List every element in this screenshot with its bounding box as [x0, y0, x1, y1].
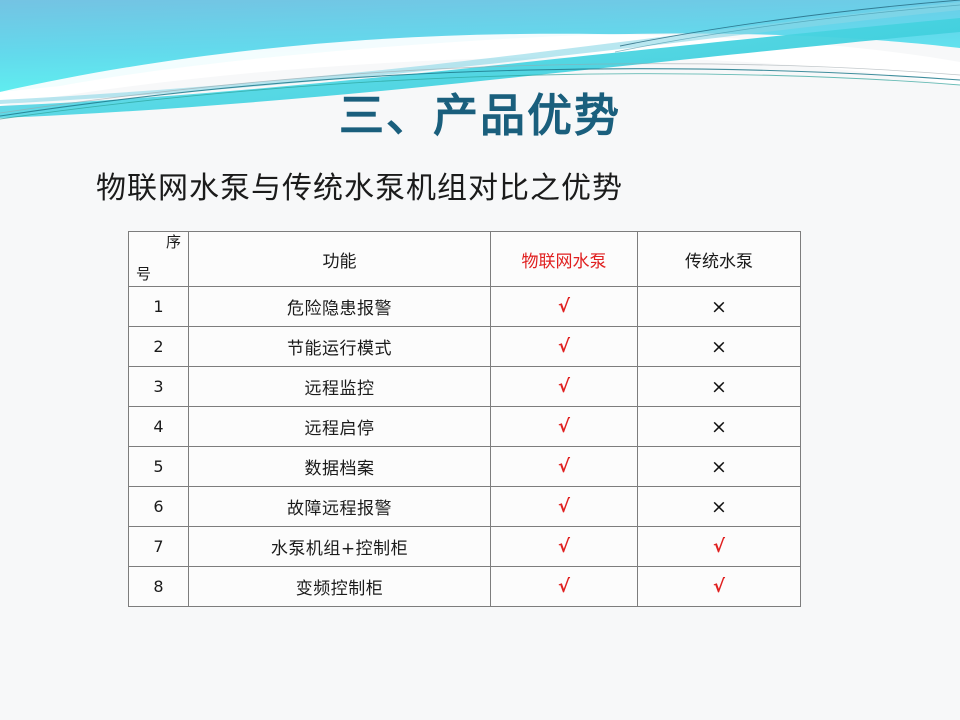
row-iot-pump-mark: √ — [491, 407, 637, 446]
row-iot-pump-mark: √ — [491, 527, 637, 566]
row-index-cell: 4 — [129, 407, 189, 447]
row-iot-pump-mark: √ — [491, 487, 637, 526]
slide-title: 三、产品优势 — [0, 92, 960, 139]
header-cell-traditional-pump: 传统水泵 — [638, 232, 801, 287]
row-function-cell: 故障远程报警 — [189, 487, 491, 527]
row-traditional-pump-mark-cell: × — [638, 407, 801, 447]
table-row: 4远程启停√× — [129, 407, 801, 447]
row-iot-pump-mark-cell: √ — [491, 407, 638, 447]
row-traditional-pump-mark: × — [638, 367, 800, 406]
row-traditional-pump-mark: × — [638, 407, 800, 446]
row-iot-pump-mark-cell: √ — [491, 487, 638, 527]
table-row: 3远程监控√× — [129, 367, 801, 407]
row-function-cell: 远程启停 — [189, 407, 491, 447]
row-function: 节能运行模式 — [189, 327, 490, 366]
row-function: 远程监控 — [189, 367, 490, 406]
row-index: 8 — [129, 567, 188, 606]
table-header-row: 序 号 功能 物联网水泵 传统水泵 — [129, 232, 801, 287]
row-index: 2 — [129, 327, 188, 366]
comparison-table: 序 号 功能 物联网水泵 传统水泵 1危险隐患报警√×2节能运行模式√×3远程监… — [128, 231, 801, 607]
table-row: 6故障远程报警√× — [129, 487, 801, 527]
row-iot-pump-mark: √ — [491, 447, 637, 486]
row-index-cell: 7 — [129, 527, 189, 567]
row-index-cell: 2 — [129, 327, 189, 367]
row-traditional-pump-mark-cell: × — [638, 327, 801, 367]
row-iot-pump-mark: √ — [491, 367, 637, 406]
row-iot-pump-mark: √ — [491, 327, 637, 366]
row-index: 3 — [129, 367, 188, 406]
row-index-cell: 5 — [129, 447, 189, 487]
table-row: 8变频控制柜√√ — [129, 567, 801, 607]
row-index: 5 — [129, 447, 188, 486]
table-row: 5数据档案√× — [129, 447, 801, 487]
row-index: 6 — [129, 487, 188, 526]
row-iot-pump-mark: √ — [491, 287, 637, 326]
slide-canvas: 三、产品优势 物联网水泵与传统水泵机组对比之优势 序 号 功能 物联网水泵 传统… — [0, 0, 960, 720]
row-function: 危险隐患报警 — [189, 287, 490, 326]
slide-subtitle: 物联网水泵与传统水泵机组对比之优势 — [96, 163, 623, 207]
row-traditional-pump-mark-cell: √ — [638, 567, 801, 607]
header-traditional-pump-label: 传统水泵 — [638, 232, 800, 286]
row-iot-pump-mark: √ — [491, 567, 637, 606]
row-function-cell: 变频控制柜 — [189, 567, 491, 607]
row-traditional-pump-mark: √ — [638, 567, 800, 606]
row-traditional-pump-mark-cell: √ — [638, 527, 801, 567]
row-iot-pump-mark-cell: √ — [491, 287, 638, 327]
row-index: 7 — [129, 527, 188, 566]
row-function-cell: 数据档案 — [189, 447, 491, 487]
table-row: 1危险隐患报警√× — [129, 287, 801, 327]
header-function-label: 功能 — [189, 232, 490, 286]
row-traditional-pump-mark-cell: × — [638, 487, 801, 527]
row-traditional-pump-mark: × — [638, 447, 800, 486]
row-index-cell: 1 — [129, 287, 189, 327]
row-traditional-pump-mark-cell: × — [638, 447, 801, 487]
row-iot-pump-mark-cell: √ — [491, 567, 638, 607]
row-function-cell: 水泵机组+控制柜 — [189, 527, 491, 567]
row-traditional-pump-mark: √ — [638, 527, 800, 566]
table-row: 7水泵机组+控制柜√√ — [129, 527, 801, 567]
row-function: 水泵机组+控制柜 — [189, 527, 490, 566]
row-function-cell: 远程监控 — [189, 367, 491, 407]
row-index: 4 — [129, 407, 188, 446]
row-traditional-pump-mark: × — [638, 327, 800, 366]
row-traditional-pump-mark-cell: × — [638, 287, 801, 327]
row-function: 数据档案 — [189, 447, 490, 486]
row-function-cell: 危险隐患报警 — [189, 287, 491, 327]
table-body: 1危险隐患报警√×2节能运行模式√×3远程监控√×4远程启停√×5数据档案√×6… — [129, 287, 801, 607]
header-cell-index: 序 号 — [129, 232, 189, 287]
row-index: 1 — [129, 287, 188, 326]
row-index-cell: 6 — [129, 487, 189, 527]
row-traditional-pump-mark: × — [638, 487, 800, 526]
row-function: 变频控制柜 — [189, 567, 490, 606]
row-iot-pump-mark-cell: √ — [491, 367, 638, 407]
row-traditional-pump-mark-cell: × — [638, 367, 801, 407]
row-function-cell: 节能运行模式 — [189, 327, 491, 367]
row-function: 故障远程报警 — [189, 487, 490, 526]
row-iot-pump-mark-cell: √ — [491, 327, 638, 367]
row-index-cell: 3 — [129, 367, 189, 407]
header-iot-pump-label: 物联网水泵 — [491, 232, 637, 286]
row-iot-pump-mark-cell: √ — [491, 447, 638, 487]
table-row: 2节能运行模式√× — [129, 327, 801, 367]
row-traditional-pump-mark: × — [638, 287, 800, 326]
row-iot-pump-mark-cell: √ — [491, 527, 638, 567]
row-index-cell: 8 — [129, 567, 189, 607]
header-cell-function: 功能 — [189, 232, 491, 287]
row-function: 远程启停 — [189, 407, 490, 446]
header-index-top-label: 序 — [166, 235, 181, 250]
header-cell-iot-pump: 物联网水泵 — [491, 232, 638, 287]
header-index-bottom-label: 号 — [136, 267, 151, 282]
